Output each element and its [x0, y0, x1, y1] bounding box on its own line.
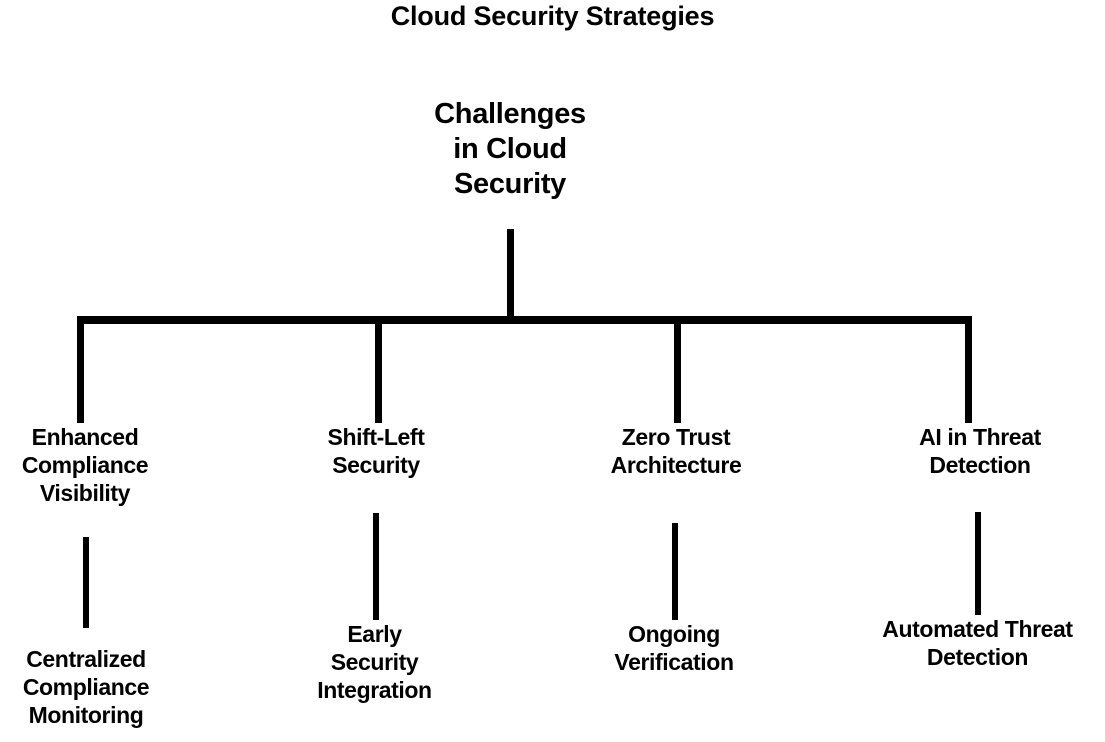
- diagram-canvas: Cloud Security Strategies Challenges in …: [0, 0, 1105, 742]
- node-branch-shift-left-security: Shift-Left Security: [290, 423, 462, 479]
- connector-branch-3-to-child: [672, 523, 678, 620]
- node-leaf-automated-threat-detection: Automated Threat Detection: [850, 615, 1105, 671]
- connector-drop-branch-2: [375, 316, 382, 423]
- connector-horizontal-bus: [77, 316, 972, 324]
- connector-drop-branch-1: [77, 316, 84, 423]
- node-root: Challenges in Cloud Security: [385, 97, 635, 202]
- node-leaf-ongoing-verification: Ongoing Verification: [588, 620, 760, 676]
- connector-root-stem: [507, 229, 514, 320]
- connector-branch-1-to-child: [83, 537, 89, 628]
- node-leaf-centralized-compliance-monitoring: Centralized Compliance Monitoring: [0, 645, 172, 729]
- connector-drop-branch-3: [674, 316, 681, 423]
- connector-branch-4-to-child: [975, 512, 981, 615]
- node-leaf-early-security-integration: Early Security Integration: [293, 620, 456, 704]
- node-branch-zero-trust-architecture: Zero Trust Architecture: [585, 423, 767, 479]
- connector-drop-branch-4: [965, 316, 972, 423]
- page-title: Cloud Security Strategies: [0, 0, 1105, 32]
- connector-branch-2-to-child: [373, 513, 379, 620]
- node-branch-enhanced-compliance-visibility: Enhanced Compliance Visibility: [0, 423, 170, 507]
- node-branch-ai-in-threat-detection: AI in Threat Detection: [888, 423, 1072, 479]
